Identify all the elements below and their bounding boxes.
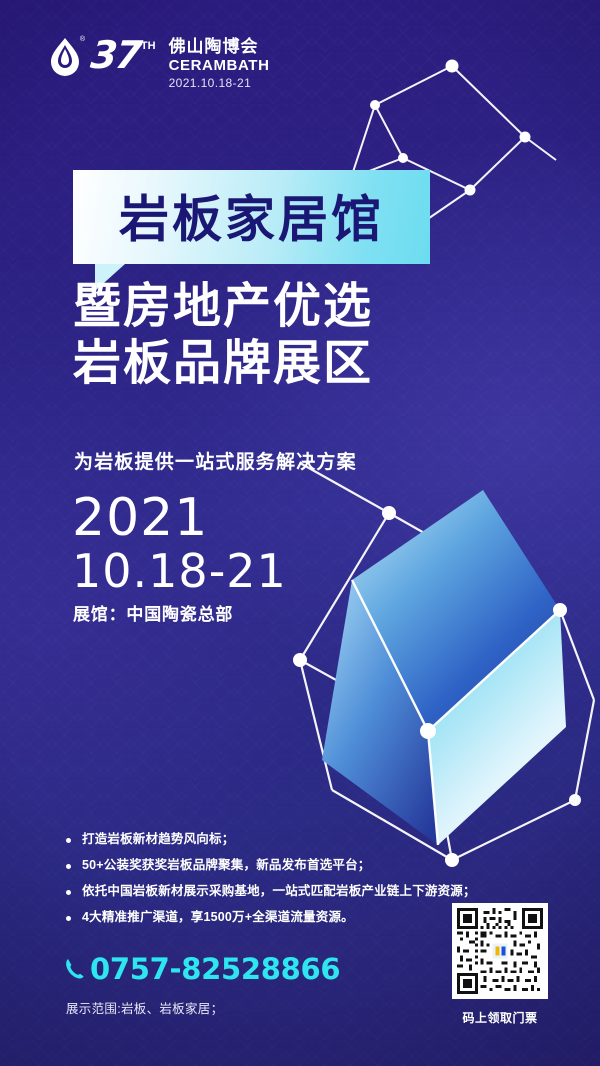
headline-secondary: 暨房地产优选 岩板品牌展区 bbox=[73, 278, 533, 392]
list-item: 4大精准推广渠道，享1500万+全渠道流量资源。 bbox=[66, 910, 486, 925]
list-item-label: 打造岩板新材趋势风向标； bbox=[82, 832, 234, 847]
poster-root: ® 37 TH 佛山陶博会 CERAMBATH 2021.10.18-21 岩板… bbox=[0, 0, 600, 1066]
bullet-dot-icon bbox=[66, 916, 71, 921]
event-year: 2021 bbox=[72, 490, 208, 546]
phone-icon bbox=[64, 957, 86, 981]
logo-date-line: 2021.10.18-21 bbox=[169, 75, 270, 91]
logo-name-cn: 佛山陶博会 bbox=[169, 37, 270, 57]
contact-phone[interactable]: 0757-82528866 bbox=[64, 952, 340, 986]
list-item-label: 4大精准推广渠道，享1500万+全渠道流量资源。 bbox=[82, 910, 354, 925]
banner-background: 岩板家居馆 bbox=[73, 170, 430, 264]
bullet-dot-icon bbox=[66, 838, 71, 843]
headline-banner: 岩板家居馆 bbox=[73, 170, 430, 264]
headline-line-3: 岩板品牌展区 bbox=[73, 335, 533, 392]
list-item-label: 依托中国岩板新材展示采购基地，一站式匹配岩板产业链上下游资源； bbox=[82, 884, 476, 899]
feature-list: 打造岩板新材趋势风向标； 50+公装奖获奖岩板品牌聚集，新品发布首选平台； 依托… bbox=[66, 832, 486, 936]
phone-number: 0757-82528866 bbox=[90, 952, 340, 986]
exhibit-scope: 展示范围:岩板、岩板家居； bbox=[66, 998, 223, 1017]
list-item: 打造岩板新材趋势风向标； bbox=[66, 832, 486, 847]
banner-title: 岩板家居馆 bbox=[73, 180, 430, 252]
list-item: 依托中国岩板新材展示采购基地，一站式匹配岩板产业链上下游资源； bbox=[66, 884, 486, 899]
logo-name-en: CERAMBATH bbox=[169, 57, 270, 74]
bullet-dot-icon bbox=[66, 890, 71, 895]
edition-number: 37 bbox=[89, 36, 142, 74]
event-venue: 展馆：中国陶瓷总部 bbox=[73, 600, 233, 625]
qr-code-icon[interactable] bbox=[452, 903, 548, 999]
list-item-label: 50+公装奖获奖岩板品牌聚集，新品发布首选平台； bbox=[82, 858, 371, 873]
headline-line-2: 暨房地产优选 bbox=[73, 278, 533, 335]
registered-mark: ® bbox=[80, 36, 85, 43]
event-logo: ® 37 TH 佛山陶博会 CERAMBATH 2021.10.18-21 bbox=[48, 36, 270, 91]
tagline: 为岩板提供一站式服务解决方案 bbox=[74, 447, 357, 474]
qr-caption: 码上领取门票 bbox=[444, 1009, 556, 1026]
bullet-dot-icon bbox=[66, 864, 71, 869]
event-dates: 10.18-21 bbox=[72, 545, 287, 597]
edition-suffix: TH bbox=[141, 40, 156, 52]
flame-drop-icon: ® bbox=[48, 36, 82, 78]
list-item: 50+公装奖获奖岩板品牌聚集，新品发布首选平台； bbox=[66, 858, 486, 873]
